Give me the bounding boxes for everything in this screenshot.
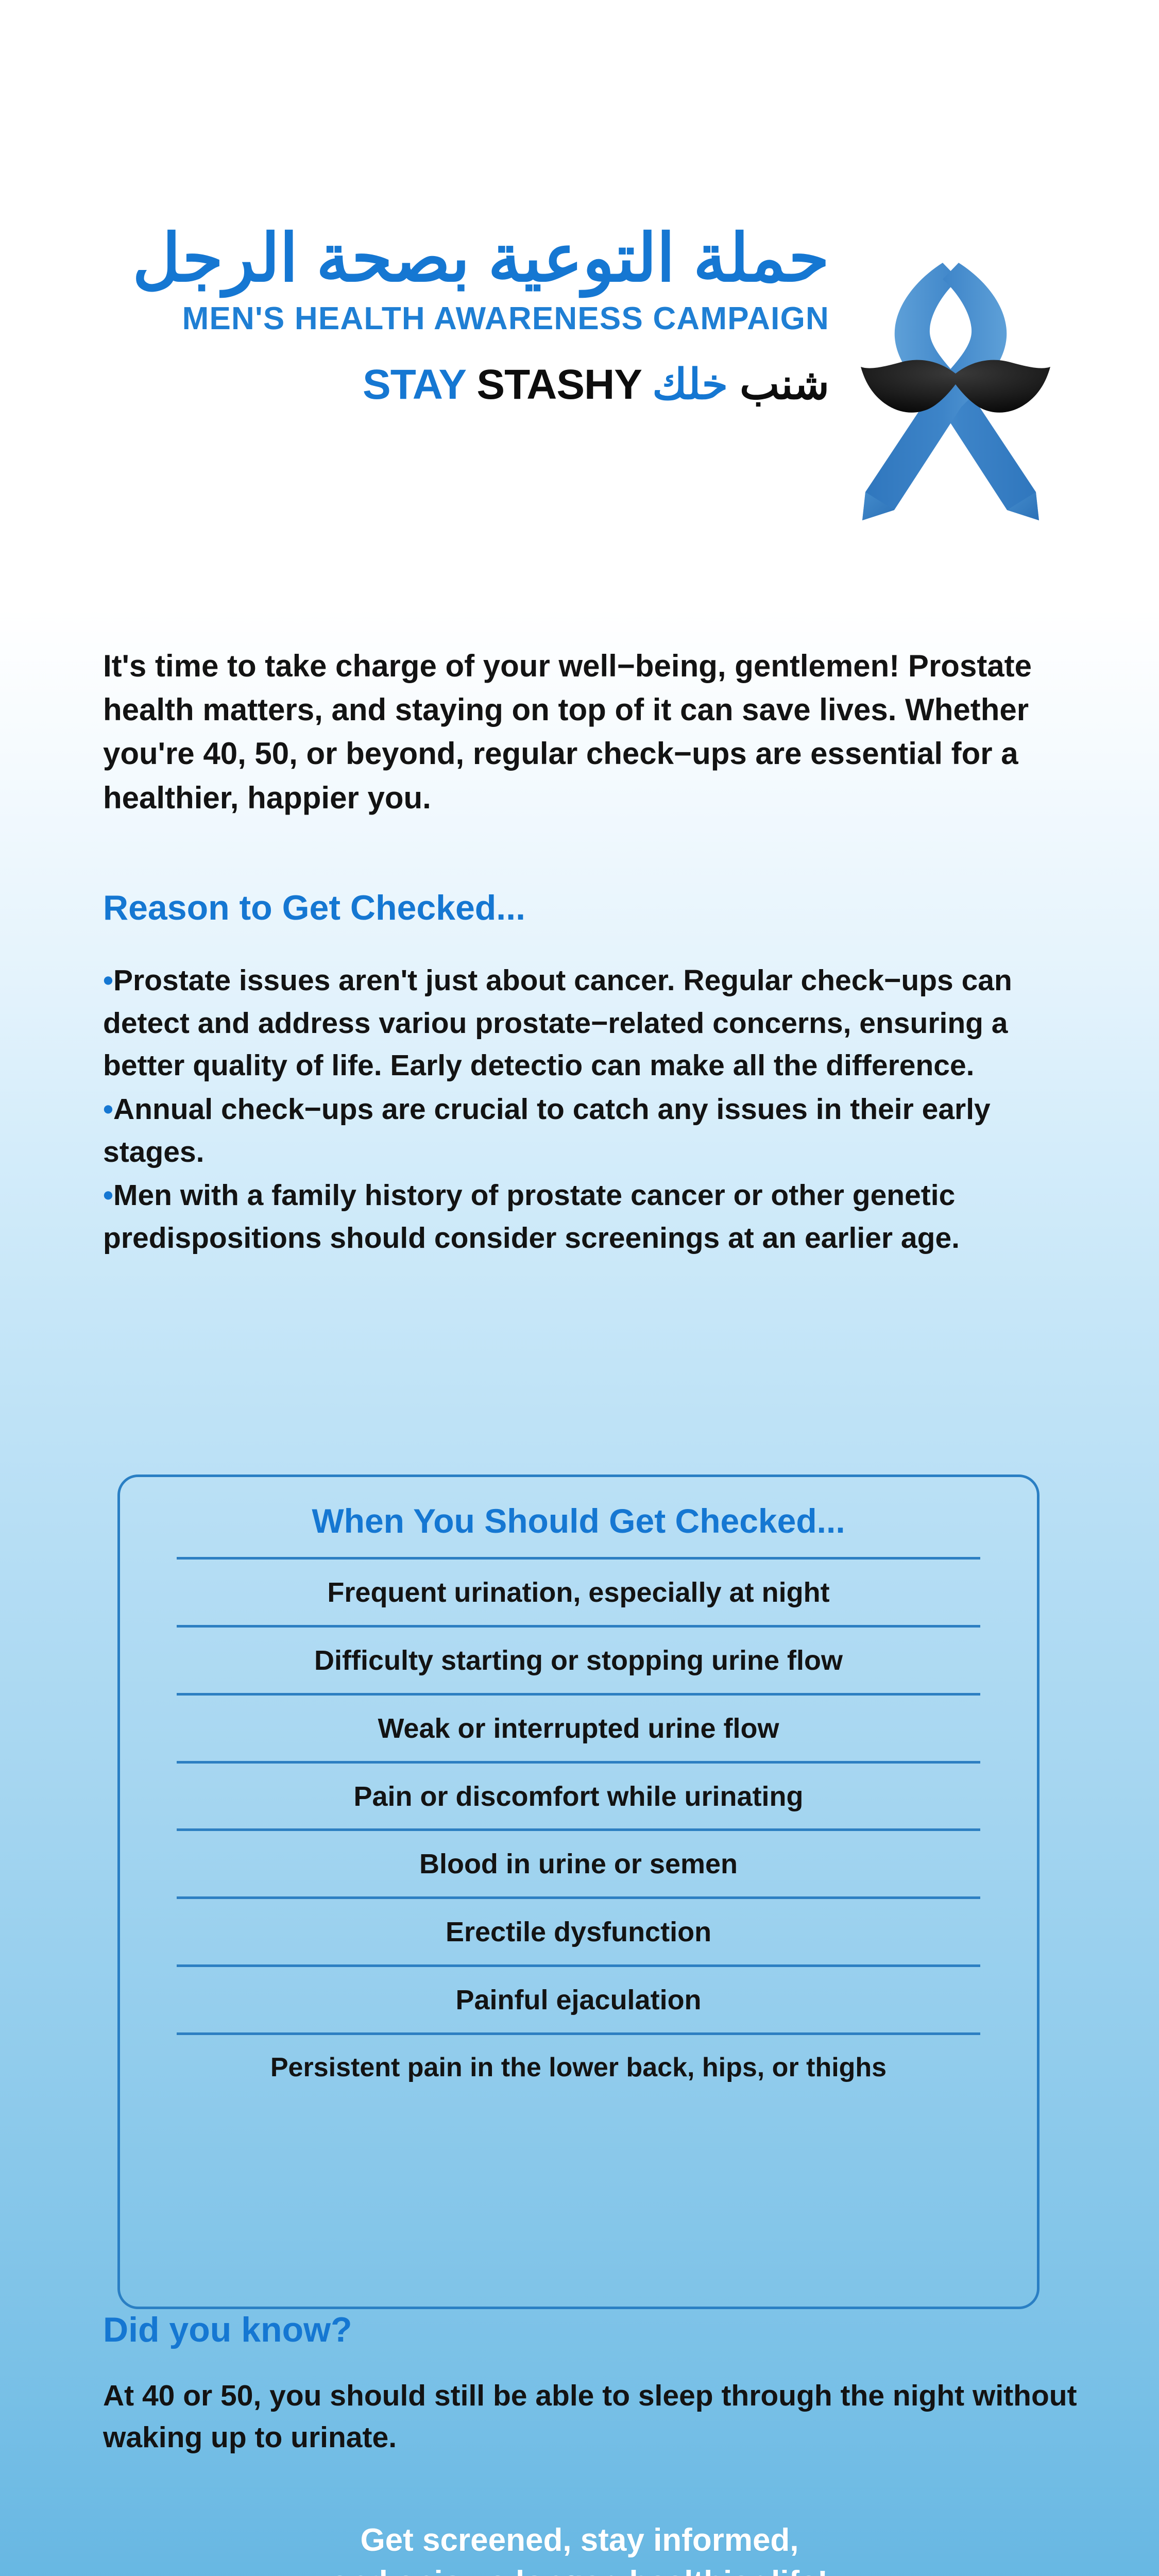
bullet-marker-icon: • xyxy=(103,1179,113,1212)
poster-root: حملة التوعية بصحة الرجل MEN'S HEALTH AWA… xyxy=(0,0,1159,2576)
bullet-marker-icon: • xyxy=(103,964,113,997)
tagline-arabic-blue: خلك xyxy=(652,361,728,408)
cta-line-2: and enjoy a longer, healthier life! xyxy=(0,2562,1159,2576)
list-item: Difficulty starting or stopping urine fl… xyxy=(177,1628,980,1693)
list-item: Frequent urination, especially at night xyxy=(177,1560,980,1625)
list-item-text: Prostate issues aren't just about cancer… xyxy=(103,964,1012,1082)
reason-section-heading: Reason to Get Checked... xyxy=(103,887,525,929)
did-you-know-heading: Did you know? xyxy=(103,2309,352,2351)
campaign-header: حملة التوعية بصحة الرجل MEN'S HEALTH AWA… xyxy=(0,222,1159,551)
list-item: Blood in urine or semen xyxy=(177,1831,980,1896)
cta-line-1: Get screened, stay informed, xyxy=(0,2519,1159,2562)
intro-paragraph: It's time to take charge of your well−be… xyxy=(103,644,1082,820)
list-item: Weak or interrupted urine flow xyxy=(177,1696,980,1761)
call-to-action-text: Get screened, stay informed, and enjoy a… xyxy=(0,2519,1159,2576)
campaign-title-english: MEN'S HEALTH AWARENESS CAMPAIGN xyxy=(93,298,829,340)
list-item-text: Men with a family history of prostate ca… xyxy=(103,1179,960,1255)
tagline-arabic-black: شنب xyxy=(740,361,829,408)
list-item: Erectile dysfunction xyxy=(177,1899,980,1964)
list-item: •Prostate issues aren't just about cance… xyxy=(103,959,1087,1087)
bullet-marker-icon: • xyxy=(103,1093,113,1126)
list-item: Painful ejaculation xyxy=(177,1967,980,2032)
tagline-stashy: STASHY xyxy=(476,361,641,408)
list-item: •Men with a family history of prostate c… xyxy=(103,1174,1087,1259)
list-item: Persistent pain in the lower back, hips,… xyxy=(177,2035,980,2099)
campaign-tagline: STAY STASHY شنب خلك xyxy=(93,361,829,409)
symptom-checklist-card: When You Should Get Checked... Frequent … xyxy=(117,1475,1039,2309)
ribbon-mustache-icon xyxy=(837,232,1074,541)
symptom-card-title: When You Should Get Checked... xyxy=(177,1501,980,1557)
did-you-know-body: At 40 or 50, you should still be able to… xyxy=(103,2375,1082,2459)
list-item: Pain or discomfort while urinating xyxy=(177,1764,980,1829)
campaign-title-arabic: حملة التوعية بصحة الرجل xyxy=(93,222,829,295)
reason-bullet-list: •Prostate issues aren't just about cance… xyxy=(103,959,1087,1260)
header-text-block: حملة التوعية بصحة الرجل MEN'S HEALTH AWA… xyxy=(93,222,829,409)
list-item-text: Annual check−ups are crucial to catch an… xyxy=(103,1093,991,1168)
tagline-stay: STAY xyxy=(363,361,466,408)
list-item: •Annual check−ups are crucial to catch a… xyxy=(103,1088,1087,1173)
